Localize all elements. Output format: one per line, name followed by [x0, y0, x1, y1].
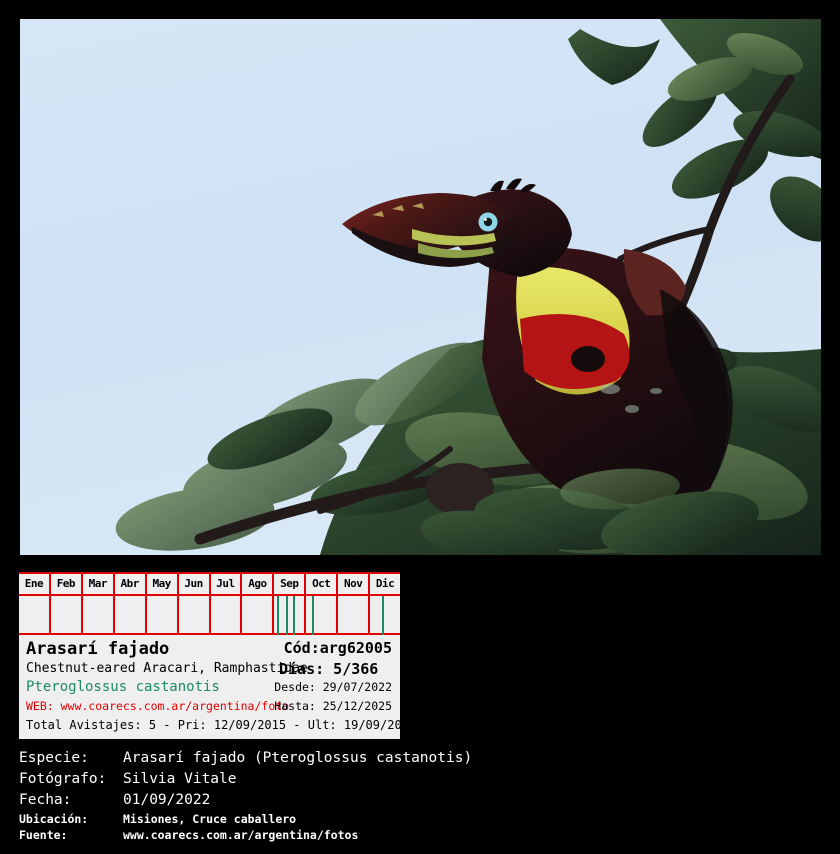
sighting-tick	[293, 596, 295, 635]
calendar-cell-feb	[51, 596, 83, 635]
especie-label: Especie:	[19, 748, 123, 769]
calendar-cell-oct	[306, 596, 338, 635]
fuente-value[interactable]: www.coarecs.com.ar/argentina/fotos	[123, 827, 358, 843]
meta-row-ubicacion: Ubicación: Misiones, Cruce caballero	[19, 811, 819, 827]
month-header-mar: Mar	[83, 574, 115, 594]
species-total-sightings: Total Avistajes: 5 - Pri: 12/09/2015 - U…	[26, 718, 416, 732]
month-header-dic: Dic	[370, 574, 400, 594]
month-header-ene: Ene	[19, 574, 51, 594]
species-date-from: Desde: 29/07/2022	[274, 680, 392, 694]
species-code: Cód:arg62005	[284, 639, 392, 657]
species-common-name-en: Chestnut-eared Aracari, Ramphastidae	[26, 661, 308, 676]
month-header-abr: Abr	[115, 574, 147, 594]
sighting-tick	[312, 596, 314, 635]
species-web-link[interactable]: WEB: www.coarecs.com.ar/argentina/foto	[26, 699, 289, 713]
fotografo-value: Silvia Vitale	[123, 769, 237, 790]
fuente-label: Fuente:	[19, 827, 123, 843]
meta-row-fecha: Fecha: 01/09/2022	[19, 790, 819, 811]
species-scientific-name: Pteroglossus castanotis	[26, 679, 220, 695]
species-info-card: Ene Feb Mar Abr May Jun Jul Ago Sep Oct …	[19, 572, 400, 739]
calendar-cell-nov	[338, 596, 370, 635]
calendar-cell-mar	[83, 596, 115, 635]
bird-photo	[20, 19, 821, 555]
fecha-value: 01/09/2022	[123, 790, 210, 811]
fecha-label: Fecha:	[19, 790, 123, 811]
fotografo-label: Fotógrafo:	[19, 769, 123, 790]
calendar-cell-dic	[370, 596, 400, 635]
meta-row-fuente: Fuente: www.coarecs.com.ar/argentina/fot…	[19, 827, 819, 843]
calendar-cell-abr	[115, 596, 147, 635]
month-header-may: May	[147, 574, 179, 594]
record-page: Ene Feb Mar Abr May Jun Jul Ago Sep Oct …	[0, 0, 840, 854]
ubicacion-label: Ubicación:	[19, 811, 123, 827]
calendar-cell-jul	[211, 596, 243, 635]
calendar-sighting-track	[19, 596, 400, 635]
bird-photo-illustration	[20, 19, 821, 555]
species-days-count: Días: 5/366	[279, 660, 378, 678]
species-common-name-es: Arasarí fajado	[26, 639, 169, 659]
calendar-cell-ene	[19, 596, 51, 635]
month-header-nov: Nov	[338, 574, 370, 594]
month-header-oct: Oct	[306, 574, 338, 594]
sighting-tick	[382, 596, 384, 635]
meta-row-fotografo: Fotógrafo: Silvia Vitale	[19, 769, 819, 790]
especie-value: Arasarí fajado (Pteroglossus castanotis)	[123, 748, 472, 769]
calendar-cell-sep	[274, 596, 306, 635]
meta-row-especie: Especie: Arasarí fajado (Pteroglossus ca…	[19, 748, 819, 769]
photo-metadata: Especie: Arasarí fajado (Pteroglossus ca…	[19, 748, 819, 843]
month-header-sep: Sep	[274, 574, 306, 594]
month-header-jul: Jul	[211, 574, 243, 594]
month-header-jun: Jun	[179, 574, 211, 594]
month-header-feb: Feb	[51, 574, 83, 594]
month-header-ago: Ago	[242, 574, 274, 594]
calendar-cell-ago	[242, 596, 274, 635]
calendar-month-header: Ene Feb Mar Abr May Jun Jul Ago Sep Oct …	[19, 574, 400, 596]
calendar-cell-jun	[179, 596, 211, 635]
species-date-to: Hasta: 25/12/2025	[274, 699, 392, 713]
card-text-block: Arasarí fajado Chestnut-eared Aracari, R…	[19, 635, 400, 739]
monthly-sighting-calendar: Ene Feb Mar Abr May Jun Jul Ago Sep Oct …	[19, 572, 400, 635]
sighting-tick	[277, 596, 279, 635]
calendar-cell-may	[147, 596, 179, 635]
sighting-tick	[286, 596, 288, 635]
ubicacion-value: Misiones, Cruce caballero	[123, 811, 296, 827]
